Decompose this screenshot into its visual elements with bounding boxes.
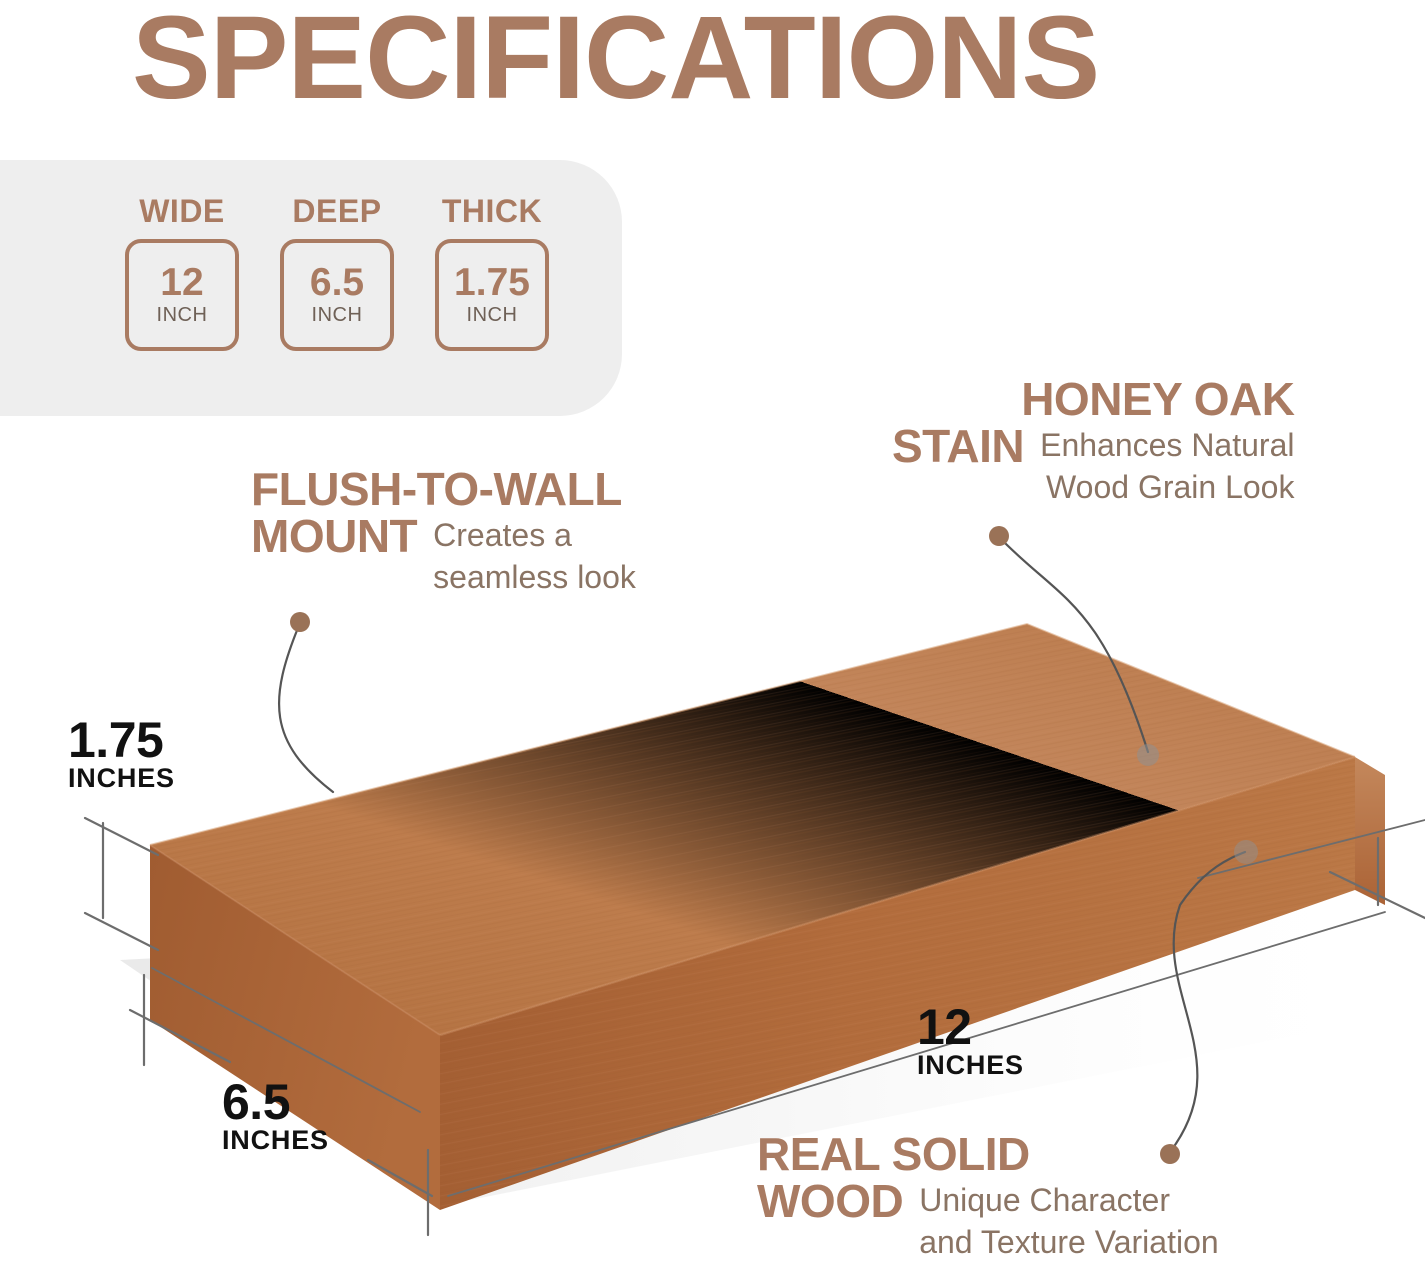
callout-desc-flush-line2: seamless look <box>433 559 636 596</box>
dimension-value-depth: 6.5 <box>222 1078 329 1127</box>
callout-title-wood-line1: REAL SOLID <box>757 1131 1219 1178</box>
callout-flush-to-wall: FLUSH-TO-WALL MOUNT Creates a seamless l… <box>251 466 636 596</box>
callout-title-wood-line2: WOOD <box>757 1178 903 1225</box>
spec-value-deep: 6.5 <box>310 263 364 302</box>
callout-desc-honey-line2: Wood Grain Look <box>1040 469 1294 506</box>
leader-line-flush-to-wall <box>279 623 333 792</box>
dimension-label-depth: 6.5 INCHES <box>222 1078 329 1154</box>
spec-label-wide: WIDE <box>139 193 225 230</box>
shelf-top-face <box>150 624 1355 1035</box>
callout-honey-oak-stain: HONEY OAK STAIN Enhances Natural Wood Gr… <box>892 376 1294 506</box>
spec-box-wide: 12 INCH <box>125 239 239 351</box>
dimension-label-thickness: 1.75 INCHES <box>68 716 175 792</box>
leader-target-dot-real-solid-wood <box>1234 840 1258 864</box>
leader-line-honey-oak <box>999 537 1148 752</box>
shelf-right-end-face <box>1355 757 1385 905</box>
spec-item-wide: WIDE 12 INCH <box>125 193 239 351</box>
shelf-left-end-face <box>150 845 440 1210</box>
dimension-tick-depth-upper <box>130 1010 230 1062</box>
callout-desc-wood-line2: and Texture Variation <box>919 1224 1218 1261</box>
spec-measurement-row: WIDE 12 INCH DEEP 6.5 INCH THICK 1.75 IN… <box>125 193 549 351</box>
dimension-tick-width-right <box>1330 872 1425 918</box>
spec-item-deep: DEEP 6.5 INCH <box>280 193 394 351</box>
leader-dot-honey-oak <box>989 526 1009 546</box>
dimension-tick-thickness-bottom <box>85 913 158 950</box>
spec-value-wide: 12 <box>160 263 203 302</box>
shelf-top-grain <box>150 624 1355 1035</box>
leader-target-dot-honey-oak <box>1137 744 1159 766</box>
dimension-unit-thickness: INCHES <box>68 765 175 792</box>
callout-desc-flush-line1: Creates a <box>433 517 636 554</box>
spec-box-thick: 1.75 INCH <box>435 239 549 351</box>
callout-real-solid-wood: REAL SOLID WOOD Unique Character and Tex… <box>757 1131 1219 1261</box>
page-title: SPECIFICATIONS <box>132 0 1099 121</box>
spec-unit-thick: INCH <box>467 304 518 327</box>
callout-desc-wood-line1: Unique Character <box>919 1182 1218 1219</box>
dimension-unit-depth: INCHES <box>222 1127 329 1154</box>
leader-dot-flush-to-wall <box>290 612 310 632</box>
shelf-left-end-grain <box>150 845 440 1210</box>
spec-item-thick: THICK 1.75 INCH <box>435 193 549 351</box>
specification-infographic: SPECIFICATIONS WIDE 12 INCH DEEP 6.5 INC… <box>0 0 1425 1279</box>
dimension-value-width: 12 <box>917 1003 1024 1052</box>
callout-title-honey-line1: HONEY OAK <box>892 376 1294 423</box>
spec-box-deep: 6.5 INCH <box>280 239 394 351</box>
spec-label-thick: THICK <box>442 193 542 230</box>
dimension-value-thickness: 1.75 <box>68 716 175 765</box>
spec-value-thick: 1.75 <box>454 263 530 302</box>
spec-unit-deep: INCH <box>312 304 363 327</box>
leader-line-real-solid-wood <box>1170 852 1245 1152</box>
callout-desc-honey-line1: Enhances Natural <box>1040 427 1294 464</box>
dimension-tick-depth-lower <box>368 1160 432 1196</box>
callout-title-honey-line2: STAIN <box>892 423 1024 470</box>
dimension-label-width: 12 INCHES <box>917 1003 1024 1079</box>
spec-label-deep: DEEP <box>292 193 381 230</box>
callout-title-flush-line1: FLUSH-TO-WALL <box>251 466 636 513</box>
dimension-unit-width: INCHES <box>917 1052 1024 1079</box>
spec-unit-wide: INCH <box>157 304 208 327</box>
dimension-tick-thickness-top <box>85 818 158 855</box>
callout-title-flush-line2: MOUNT <box>251 513 417 560</box>
dimension-extension-width-top <box>1198 820 1425 878</box>
